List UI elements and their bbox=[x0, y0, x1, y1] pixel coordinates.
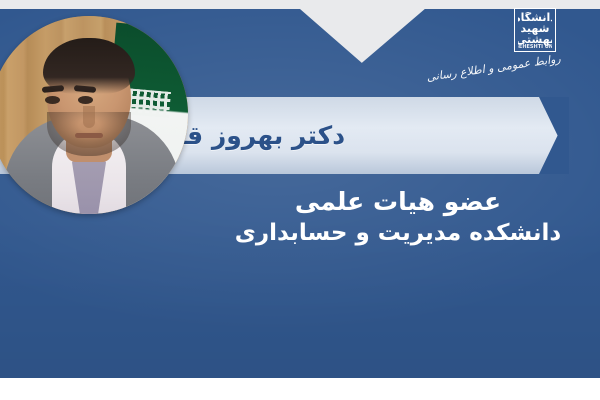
avatar bbox=[0, 16, 188, 214]
portrait-mouth bbox=[75, 133, 103, 138]
university-logo-icon: دانشگاه شهید بهشتی SHAHID BEHESHTI UNIVE… bbox=[514, 8, 556, 52]
logo-kufic-text: دانشگاه شهید بهشتی SHAHID BEHESHTI UNIVE… bbox=[518, 12, 552, 48]
role-title: عضو هیات علمی bbox=[196, 186, 600, 217]
portrait-eye-right bbox=[78, 96, 93, 104]
portrait-eye-left bbox=[45, 96, 60, 104]
role-block: عضو هیات علمی دانشکده مدیریت و حسابداری bbox=[196, 186, 600, 249]
logo-line-4: SHAHID BEHESHTI UNIVERSITY bbox=[518, 45, 552, 48]
bottom-margin bbox=[0, 378, 600, 400]
faculty-profile-card: دکتر بهروز قلیچ لی عضو هیات علمی دانشکده… bbox=[0, 0, 600, 400]
portrait-photo bbox=[0, 16, 188, 214]
department-name: دانشکده مدیریت و حسابداری bbox=[196, 219, 600, 249]
portrait-nose bbox=[83, 106, 95, 128]
